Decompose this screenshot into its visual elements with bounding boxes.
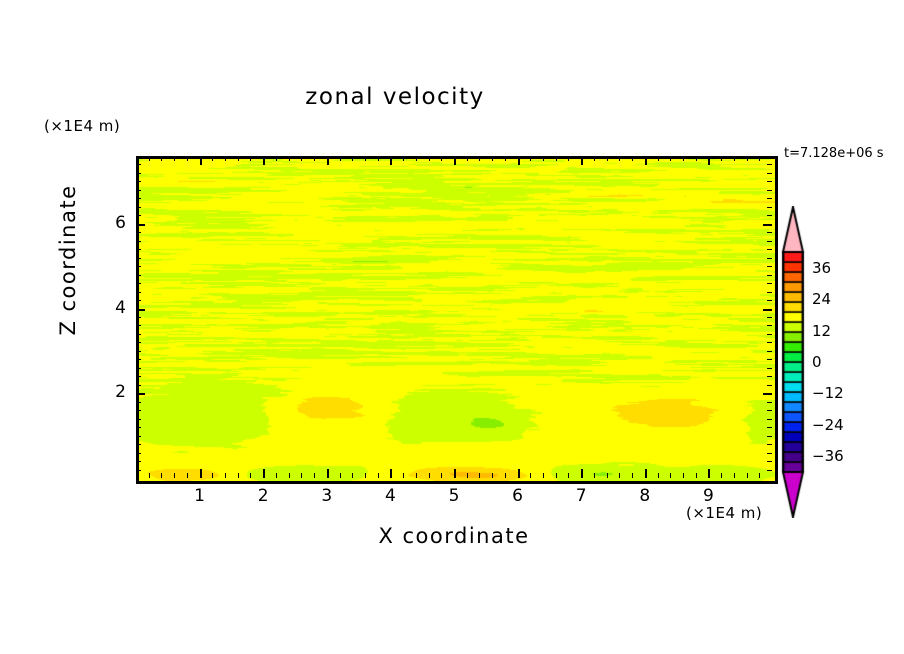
y-minor-tick-right: [767, 351, 772, 352]
y-minor-tick-right: [767, 266, 772, 267]
x-minor-tick-top: [568, 156, 569, 161]
x-major-tick: [390, 469, 392, 478]
time-annotation: t=7.128e+06 s: [784, 146, 884, 161]
y-minor-tick-right: [767, 317, 772, 318]
y-minor-tick: [136, 164, 141, 165]
y-minor-tick-right: [767, 275, 772, 276]
x-minor-tick: [187, 473, 188, 478]
x-minor-tick: [301, 473, 302, 478]
y-minor-tick: [136, 385, 141, 386]
colorbar-canvas: [778, 206, 808, 518]
y-minor-tick: [136, 207, 141, 208]
x-minor-tick-top: [378, 156, 379, 161]
x-major-tick: [454, 469, 456, 478]
y-minor-tick: [136, 368, 141, 369]
x-major-tick-top: [645, 156, 647, 165]
y-minor-tick: [136, 215, 141, 216]
x-tick-label: 1: [180, 486, 220, 506]
x-minor-tick: [632, 473, 633, 478]
x-minor-tick: [696, 473, 697, 478]
x-minor-tick: [161, 473, 162, 478]
y-minor-tick: [136, 241, 141, 242]
colorbar-tick-label: −24: [812, 416, 844, 434]
x-minor-tick-top: [696, 156, 697, 161]
y-minor-tick-right: [767, 368, 772, 369]
y-tick-label: 4: [96, 298, 126, 318]
y-minor-tick: [136, 283, 141, 284]
y-minor-tick: [136, 334, 141, 335]
x-minor-tick: [492, 473, 493, 478]
x-minor-tick-top: [658, 156, 659, 161]
y-minor-tick-right: [767, 325, 772, 326]
x-minor-tick-top: [479, 156, 480, 161]
y-minor-tick: [136, 402, 141, 403]
x-minor-tick-top: [467, 156, 468, 161]
y-minor-tick-right: [767, 198, 772, 199]
y-minor-tick-right: [767, 258, 772, 259]
y-minor-tick-right: [767, 207, 772, 208]
x-minor-tick: [505, 473, 506, 478]
x-minor-tick-top: [276, 156, 277, 161]
y-minor-tick: [136, 342, 141, 343]
x-minor-tick-top: [670, 156, 671, 161]
x-axis-title: X coordinate: [136, 524, 772, 548]
x-major-tick: [263, 469, 265, 478]
x-minor-tick: [467, 473, 468, 478]
x-minor-tick: [658, 473, 659, 478]
x-major-tick-top: [200, 156, 202, 165]
x-minor-tick: [479, 473, 480, 478]
x-minor-tick-top: [225, 156, 226, 161]
y-minor-tick: [136, 351, 141, 352]
y-minor-tick: [136, 266, 141, 267]
y-minor-tick: [136, 325, 141, 326]
x-major-tick: [200, 469, 202, 478]
y-major-tick: [136, 309, 145, 311]
x-minor-tick-top: [352, 156, 353, 161]
y-minor-tick-right: [767, 173, 772, 174]
x-minor-tick-top: [492, 156, 493, 161]
x-minor-tick: [759, 473, 760, 478]
x-major-tick-top: [327, 156, 329, 165]
x-minor-tick: [365, 473, 366, 478]
y-minor-tick-right: [767, 359, 772, 360]
y-tick-label: 6: [96, 213, 126, 233]
x-minor-tick-top: [556, 156, 557, 161]
x-minor-tick: [225, 473, 226, 478]
x-axis-unit-label: (×1E4 m): [686, 504, 762, 522]
y-minor-tick: [136, 258, 141, 259]
y-minor-tick: [136, 173, 141, 174]
y-major-tick-right: [763, 224, 772, 226]
colorbar-tick-label: 36: [812, 259, 831, 277]
y-minor-tick-right: [767, 249, 772, 250]
x-minor-tick: [607, 473, 608, 478]
x-minor-tick: [174, 473, 175, 478]
y-minor-tick-right: [767, 376, 772, 377]
x-minor-tick: [314, 473, 315, 478]
x-minor-tick-top: [543, 156, 544, 161]
y-minor-tick: [136, 317, 141, 318]
x-minor-tick-top: [161, 156, 162, 161]
x-minor-tick: [543, 473, 544, 478]
x-tick-label: 5: [434, 486, 474, 506]
colorbar-tick-label: −36: [812, 447, 844, 465]
colorbar: [778, 206, 808, 518]
x-major-tick-top: [263, 156, 265, 165]
x-tick-label: 8: [625, 486, 665, 506]
x-minor-tick-top: [530, 156, 531, 161]
y-axis-unit-label: (×1E4 m): [44, 117, 120, 135]
x-minor-tick: [441, 473, 442, 478]
x-minor-tick-top: [594, 156, 595, 161]
y-major-tick: [136, 393, 145, 395]
y-minor-tick: [136, 444, 141, 445]
y-major-tick-right: [763, 309, 772, 311]
x-minor-tick: [670, 473, 671, 478]
x-minor-tick-top: [683, 156, 684, 161]
y-axis-title: Z coordinate: [56, 165, 80, 355]
y-minor-tick-right: [767, 232, 772, 233]
x-minor-tick-top: [403, 156, 404, 161]
x-tick-label: 2: [243, 486, 283, 506]
y-minor-tick: [136, 359, 141, 360]
x-minor-tick: [238, 473, 239, 478]
y-minor-tick-right: [767, 292, 772, 293]
x-minor-tick-top: [250, 156, 251, 161]
y-minor-tick-right: [767, 300, 772, 301]
x-minor-tick: [403, 473, 404, 478]
x-major-tick: [708, 469, 710, 478]
x-minor-tick-top: [619, 156, 620, 161]
y-minor-tick-right: [767, 410, 772, 411]
x-minor-tick-top: [174, 156, 175, 161]
contour-field-canvas: [139, 159, 775, 481]
x-minor-tick: [721, 473, 722, 478]
x-major-tick-top: [390, 156, 392, 165]
y-minor-tick: [136, 275, 141, 276]
page-title: zonal velocity: [0, 84, 790, 110]
y-major-tick-right: [763, 393, 772, 395]
y-minor-tick: [136, 232, 141, 233]
x-minor-tick-top: [187, 156, 188, 161]
y-minor-tick: [136, 249, 141, 250]
x-major-tick-top: [518, 156, 520, 165]
x-minor-tick: [530, 473, 531, 478]
x-minor-tick: [556, 473, 557, 478]
colorbar-tick-label: 24: [812, 290, 831, 308]
y-minor-tick-right: [767, 181, 772, 182]
x-minor-tick-top: [314, 156, 315, 161]
figure-root: zonal velocity (×1E4 m) (×1E4 m) t=7.128…: [0, 0, 904, 654]
y-minor-tick-right: [767, 215, 772, 216]
y-minor-tick: [136, 410, 141, 411]
y-minor-tick-right: [767, 241, 772, 242]
y-minor-tick: [136, 419, 141, 420]
x-tick-label: 6: [498, 486, 538, 506]
x-minor-tick-top: [289, 156, 290, 161]
y-minor-tick-right: [767, 461, 772, 462]
y-minor-tick-right: [767, 385, 772, 386]
y-minor-tick: [136, 181, 141, 182]
x-minor-tick: [416, 473, 417, 478]
x-minor-tick-top: [505, 156, 506, 161]
colorbar-tick-label: 12: [812, 322, 831, 340]
x-minor-tick: [429, 473, 430, 478]
y-minor-tick-right: [767, 283, 772, 284]
y-minor-tick: [136, 461, 141, 462]
x-major-tick-top: [708, 156, 710, 165]
y-minor-tick: [136, 376, 141, 377]
colorbar-tick-label: −12: [812, 384, 844, 402]
x-minor-tick-top: [301, 156, 302, 161]
x-minor-tick-top: [365, 156, 366, 161]
y-minor-tick-right: [767, 402, 772, 403]
x-minor-tick-top: [429, 156, 430, 161]
x-minor-tick-top: [340, 156, 341, 161]
y-minor-tick-right: [767, 342, 772, 343]
y-tick-label: 2: [96, 382, 126, 402]
y-minor-tick-right: [767, 470, 772, 471]
y-minor-tick: [136, 300, 141, 301]
x-minor-tick-top: [747, 156, 748, 161]
x-major-tick-top: [581, 156, 583, 165]
y-minor-tick-right: [767, 164, 772, 165]
x-minor-tick: [250, 473, 251, 478]
y-minor-tick-right: [767, 444, 772, 445]
x-minor-tick-top: [212, 156, 213, 161]
x-minor-tick: [340, 473, 341, 478]
x-minor-tick: [734, 473, 735, 478]
x-minor-tick: [289, 473, 290, 478]
x-minor-tick-top: [721, 156, 722, 161]
x-minor-tick: [378, 473, 379, 478]
y-minor-tick-right: [767, 436, 772, 437]
x-minor-tick: [568, 473, 569, 478]
x-minor-tick-top: [238, 156, 239, 161]
y-minor-tick: [136, 198, 141, 199]
y-minor-tick-right: [767, 427, 772, 428]
y-major-tick: [136, 224, 145, 226]
colorbar-tick-label: 0: [812, 353, 822, 371]
y-minor-tick: [136, 190, 141, 191]
x-minor-tick-top: [149, 156, 150, 161]
y-minor-tick-right: [767, 419, 772, 420]
y-minor-tick: [136, 436, 141, 437]
x-minor-tick-top: [416, 156, 417, 161]
y-minor-tick-right: [767, 453, 772, 454]
x-minor-tick: [683, 473, 684, 478]
x-minor-tick: [747, 473, 748, 478]
x-tick-label: 7: [561, 486, 601, 506]
x-tick-label: 4: [370, 486, 410, 506]
y-minor-tick: [136, 427, 141, 428]
x-tick-label: 9: [688, 486, 728, 506]
x-minor-tick-top: [632, 156, 633, 161]
y-minor-tick: [136, 292, 141, 293]
x-minor-tick: [212, 473, 213, 478]
x-tick-label: 3: [307, 486, 347, 506]
x-major-tick: [645, 469, 647, 478]
y-minor-tick-right: [767, 334, 772, 335]
x-minor-tick-top: [607, 156, 608, 161]
x-minor-tick-top: [734, 156, 735, 161]
x-minor-tick: [276, 473, 277, 478]
contour-plot-area: [136, 156, 778, 484]
x-minor-tick-top: [441, 156, 442, 161]
x-minor-tick: [619, 473, 620, 478]
x-minor-tick: [352, 473, 353, 478]
y-minor-tick: [136, 453, 141, 454]
x-major-tick: [581, 469, 583, 478]
x-minor-tick: [149, 473, 150, 478]
x-major-tick-top: [454, 156, 456, 165]
x-major-tick: [518, 469, 520, 478]
y-minor-tick: [136, 470, 141, 471]
x-minor-tick-top: [759, 156, 760, 161]
x-major-tick: [327, 469, 329, 478]
y-minor-tick-right: [767, 190, 772, 191]
x-minor-tick: [594, 473, 595, 478]
